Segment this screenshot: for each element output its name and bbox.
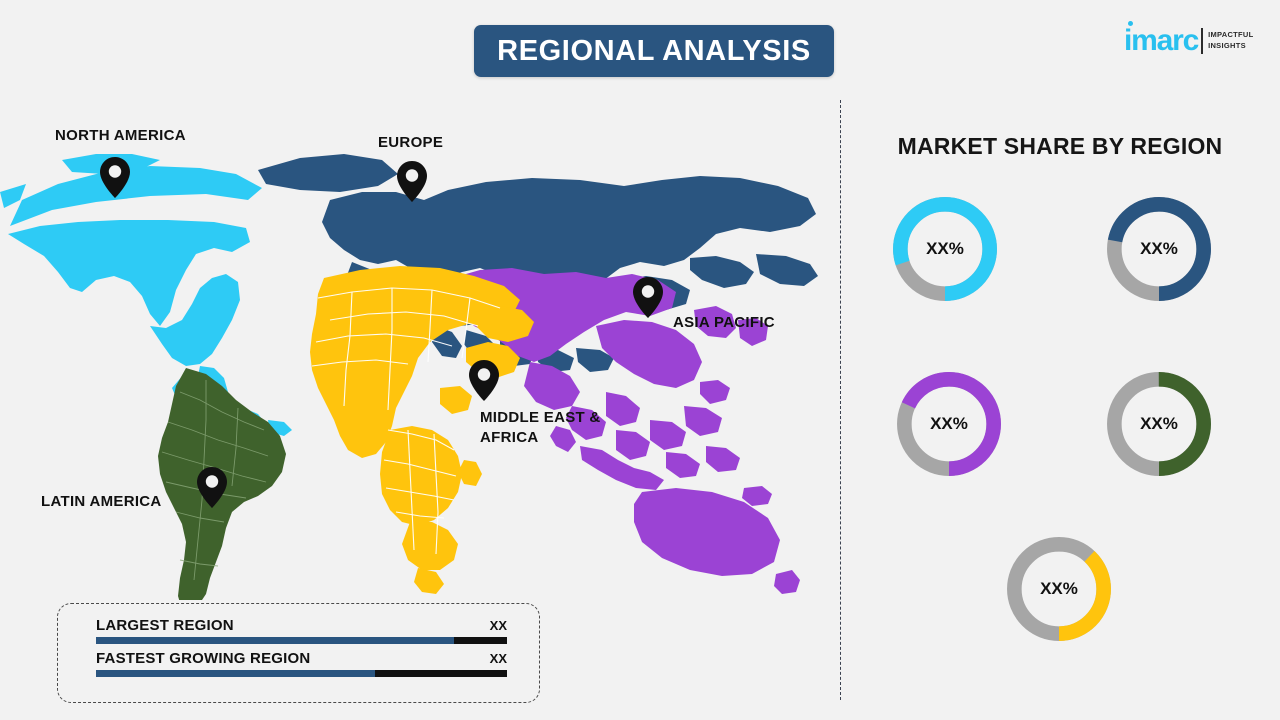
map-pin-middle-east-africa-icon [469, 360, 499, 401]
legend-row-largest-region: LARGEST REGION XX [96, 617, 507, 644]
donut-chart-latin-america: XX% [1100, 365, 1218, 483]
donut-value-asia-pacific: XX% [890, 365, 1008, 483]
donut-chart-north-america: XX% [886, 190, 1004, 308]
logo-divider [1201, 28, 1203, 54]
donut-chart-middle-east-africa: XX% [1000, 530, 1118, 648]
legend-bar-fill-largest-region [96, 637, 454, 644]
region-summary-box: LARGEST REGION XX FASTEST GROWING REGION… [57, 603, 540, 703]
logo-dot-icon [1128, 21, 1133, 26]
map-pin-asia-pacific-icon [633, 277, 663, 318]
legend-bar-largest-region [96, 637, 507, 644]
donut-chart-asia-pacific: XX% [890, 365, 1008, 483]
logo-wordmark: imarc [1124, 26, 1198, 56]
map-label-middle-east-africa: MIDDLE EAST & AFRICA [480, 408, 601, 449]
map-pin-north-america-icon [100, 157, 130, 198]
legend-bar-fill-fastest-growing-region [96, 670, 375, 677]
imarc-logo: imarc IMPACTFUL INSIGHTS [1124, 24, 1254, 58]
map-pin-latin-america-icon [197, 467, 227, 508]
map-label-latin-america: LATIN AMERICA [41, 492, 162, 512]
legend-row-fastest-growing-region: FASTEST GROWING REGION XX [96, 650, 507, 677]
logo-tagline-line2: INSIGHTS [1208, 41, 1253, 52]
donut-value-latin-america: XX% [1100, 365, 1218, 483]
legend-bar-fastest-growing-region [96, 670, 507, 677]
market-share-panel-title: MARKET SHARE BY REGION [840, 133, 1280, 160]
panel-divider [840, 100, 841, 700]
map-label-europe: EUROPE [378, 133, 443, 153]
legend-value-fastest-growing-region: XX [490, 651, 507, 666]
page-title-banner: REGIONAL ANALYSIS [474, 25, 834, 77]
regional-analysis-infographic: REGIONAL ANALYSIS imarc IMPACTFUL INSIGH… [0, 0, 1280, 720]
map-pin-europe-icon [397, 161, 427, 202]
legend-value-largest-region: XX [490, 618, 507, 633]
donut-value-north-america: XX% [886, 190, 1004, 308]
map-region-north-america [0, 154, 292, 436]
donut-value-middle-east-africa: XX% [1000, 530, 1118, 648]
donut-chart-europe: XX% [1100, 190, 1218, 308]
page-title: REGIONAL ANALYSIS [497, 35, 811, 68]
donut-value-europe: XX% [1100, 190, 1218, 308]
logo-tagline-line1: IMPACTFUL [1208, 30, 1253, 41]
legend-label-largest-region: LARGEST REGION [96, 617, 234, 634]
map-label-north-america: NORTH AMERICA [55, 126, 186, 146]
legend-label-fastest-growing-region: FASTEST GROWING REGION [96, 650, 310, 667]
map-label-asia-pacific: ASIA PACIFIC [673, 313, 775, 333]
logo-wordmark-text: imarc [1124, 24, 1198, 57]
logo-tagline: IMPACTFUL INSIGHTS [1208, 30, 1253, 52]
